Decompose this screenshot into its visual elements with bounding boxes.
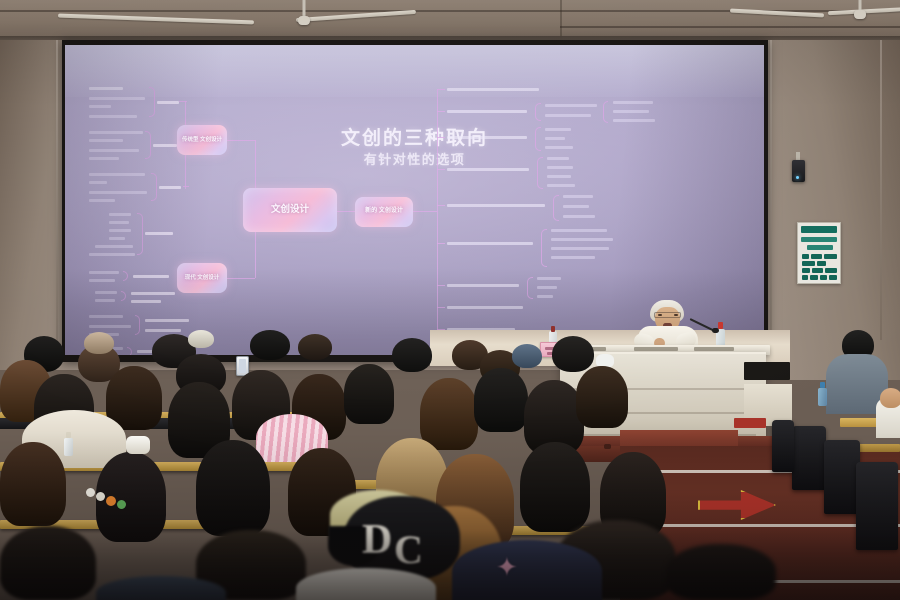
slide-node-center: 文创设计 — [243, 188, 337, 232]
slide-text-line — [89, 325, 131, 328]
slide-text-line — [613, 119, 655, 122]
slide-text-line — [545, 104, 597, 107]
audience-hair — [0, 442, 66, 526]
wall-seam — [56, 40, 58, 368]
slide-text-line — [89, 157, 119, 160]
slide-text-line — [89, 279, 115, 282]
slide-text-line — [613, 110, 649, 113]
slide-text-line — [89, 191, 147, 194]
slide-text-line — [551, 256, 595, 259]
slide-text-line — [95, 299, 115, 302]
bottle-cap — [718, 322, 723, 329]
slide-text-line — [89, 173, 145, 176]
slide-text-line — [563, 195, 593, 198]
slide-text-line — [89, 149, 139, 152]
slide-text-line — [109, 237, 125, 240]
slide-bracket — [145, 131, 151, 159]
slide-branch-label — [153, 144, 177, 147]
bottle-body — [64, 438, 73, 456]
audience-head — [512, 344, 542, 368]
slide-bracket — [123, 271, 128, 281]
slide-branch-label — [131, 300, 161, 303]
slide-branch-label — [159, 186, 181, 189]
poster-chip — [825, 268, 837, 273]
slide-branch-label — [131, 292, 175, 295]
audience-head-light — [188, 330, 214, 348]
slide-text-line — [89, 271, 119, 274]
slide-bracket — [537, 157, 543, 189]
slide-text-line — [95, 245, 133, 248]
slide-text-line — [551, 238, 613, 241]
slide-subtitle: 有针对性的选项 — [364, 149, 466, 168]
status-led — [796, 176, 799, 179]
slide-text-line — [89, 139, 123, 142]
slide-bracket — [541, 229, 547, 267]
slide-connector — [437, 111, 445, 112]
slide-bracket — [151, 173, 157, 201]
audience-hair — [520, 442, 590, 532]
slide-connector — [337, 211, 357, 212]
wall-seam — [770, 40, 772, 376]
poster-chip — [802, 261, 815, 266]
slide-bracket — [149, 87, 155, 117]
slide-text-line — [447, 306, 523, 309]
slide-text-line — [89, 87, 123, 90]
slide-connector — [179, 101, 187, 102]
audience-head — [298, 334, 332, 360]
slide-bracket — [535, 127, 541, 151]
star-graphic-icon: ✦ — [496, 554, 518, 580]
slide-connector — [437, 243, 445, 244]
audience-hair-light — [84, 332, 114, 354]
audience-white-top — [296, 568, 436, 600]
slide-text-line — [447, 88, 539, 91]
slide-text-line — [613, 101, 653, 104]
poster-line — [801, 237, 837, 242]
slide-text-line — [545, 114, 591, 117]
emergency-notice-poster — [797, 222, 841, 284]
slide-text-line — [545, 146, 573, 149]
slide-connector — [227, 278, 255, 279]
wall-seam — [880, 40, 882, 340]
wall-speaker-icon — [792, 160, 805, 182]
audience-hair — [196, 440, 270, 536]
slide-text-line — [545, 137, 565, 140]
audience-hair — [420, 378, 478, 450]
slide-text-line — [89, 131, 143, 134]
poster-chip — [824, 254, 837, 259]
slide-text-line — [551, 247, 609, 250]
audience: ✦ D C — [0, 330, 900, 600]
slide-text-line — [447, 168, 529, 171]
poster-chip — [817, 261, 826, 266]
poster-chip — [820, 275, 827, 280]
slide-connector — [437, 205, 445, 206]
poster-line — [807, 245, 833, 250]
slide-connector — [437, 307, 445, 308]
presenter-eye — [658, 314, 662, 316]
slide-connector — [437, 285, 445, 286]
fan-hub — [854, 10, 866, 19]
poster-chip — [802, 268, 810, 273]
hair-clip-bead — [96, 492, 105, 501]
slide-bracket — [137, 213, 143, 255]
slide-text-line — [547, 157, 569, 160]
slide-node-branch-bottom: 现代 文创设计 — [177, 263, 227, 293]
cap-letter: D — [362, 516, 392, 564]
slide-connector — [437, 169, 445, 170]
poster-chip — [811, 254, 822, 259]
slide-text-line — [89, 199, 115, 202]
poster-chip — [812, 268, 823, 273]
audience-hair-foreground — [0, 526, 96, 600]
audience-head — [552, 336, 594, 372]
hair-clip-bead — [106, 496, 116, 506]
slide-text-line — [537, 295, 553, 298]
slide-branch-label — [157, 101, 179, 104]
hair-clip-bead — [117, 500, 126, 509]
slide-connector — [227, 140, 255, 141]
ceiling-fan-left — [244, 0, 364, 34]
slide-node-branch-top: 传统型 文创设计 — [177, 125, 227, 155]
slide-branch-label — [133, 275, 169, 278]
lecture-hall-photo: 文创的三种取向 有针对性的选项 — [0, 0, 900, 600]
slide-bracket — [527, 277, 533, 299]
hair-bow — [126, 436, 150, 454]
slide-text-line — [109, 221, 129, 224]
slide-text-line — [109, 213, 131, 216]
slide-connector — [437, 137, 445, 138]
slide-text-line — [447, 242, 533, 245]
poster-chip — [802, 254, 809, 259]
fan-hub — [298, 16, 310, 25]
slide-text-line — [109, 229, 131, 232]
slide-text-line — [563, 205, 589, 208]
water-bottle — [64, 432, 73, 456]
slide-bracket — [121, 291, 126, 301]
audience-hair — [474, 368, 528, 432]
audience-head — [392, 338, 432, 372]
slide-bracket — [553, 195, 559, 221]
audience-hair-foreground — [666, 544, 776, 600]
poster-chip — [829, 275, 837, 280]
slide-text-line — [89, 97, 145, 100]
slide-text-line — [89, 315, 123, 318]
slide-text-line — [563, 215, 595, 218]
audience-hair — [344, 364, 394, 424]
slide-text-line — [89, 253, 135, 256]
slide-connector — [413, 211, 437, 212]
audience-head — [250, 330, 290, 360]
slide-text-line — [95, 291, 117, 294]
slide-text-line — [537, 286, 557, 289]
slide-branch-label — [145, 319, 189, 322]
slide-bracket — [603, 101, 608, 123]
slide-connector — [437, 89, 445, 90]
audience-navy-shirt — [452, 540, 602, 600]
slide-text-line — [447, 284, 519, 287]
poster-title-bar — [801, 226, 837, 233]
slide-text-line — [89, 181, 107, 184]
slide-text-line — [547, 166, 573, 169]
ceiling-fan-right — [800, 0, 900, 30]
slide-connector — [183, 186, 189, 187]
slide-connector — [437, 89, 438, 333]
slide-text-line — [89, 115, 137, 118]
slide-text-line — [547, 184, 575, 187]
slide-text-line — [447, 204, 545, 207]
audience-hair — [576, 366, 628, 428]
poster-chip — [802, 275, 808, 280]
slide-text-line — [545, 128, 571, 131]
slide-text-line — [447, 110, 527, 113]
cap-letter: C — [394, 526, 423, 573]
slide-text-line — [537, 277, 561, 280]
slide-text-line — [551, 229, 607, 232]
hair-clip-bead — [86, 488, 95, 497]
phone-screen — [239, 359, 246, 373]
poster-chip — [810, 275, 818, 280]
presenter-eye — [674, 314, 678, 316]
slide-text-line — [89, 105, 111, 108]
slide-bracket — [535, 103, 541, 121]
slide-node-right: 新的 文创设计 — [355, 197, 413, 227]
slide-text-line — [447, 136, 527, 139]
bottle-cap — [66, 432, 71, 438]
slide-text-line — [547, 175, 571, 178]
slide-branch-label — [145, 232, 173, 235]
